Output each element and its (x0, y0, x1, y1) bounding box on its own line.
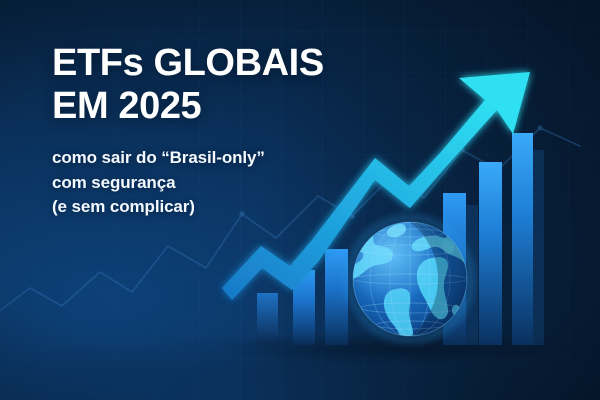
bar-5 (479, 162, 502, 345)
etf-banner: ETFs GLOBAISEM 2025 como sair do “Brasil… (0, 0, 600, 400)
subtitle: como sair do “Brasil-only” com segurança… (52, 146, 382, 220)
headline-line-2: EM 2025 (52, 85, 201, 127)
page-title: ETFs GLOBAISEM 2025 (52, 42, 382, 128)
copy-block: ETFs GLOBAISEM 2025 como sair do “Brasil… (52, 42, 382, 220)
subtitle-line-1: como sair do “Brasil-only” (52, 146, 382, 171)
bar-6 (512, 133, 533, 345)
subtitle-line-3: (e sem complicar) (52, 195, 382, 220)
subtitle-line-2: com segurança (52, 171, 382, 196)
headline-line-1: ETFs GLOBAIS (52, 42, 324, 84)
